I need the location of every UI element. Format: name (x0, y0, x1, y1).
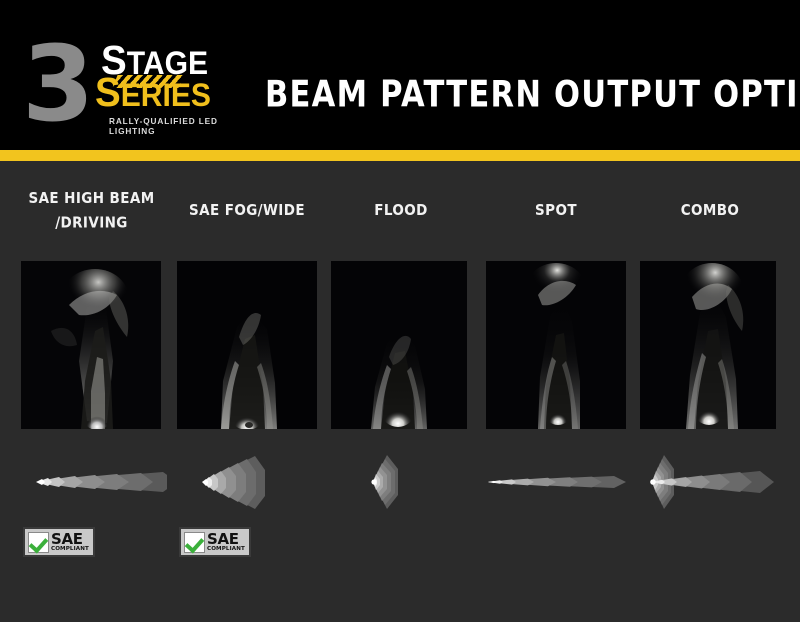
logo-numeral: 3 (22, 32, 88, 136)
beam-photo-flood (331, 261, 467, 429)
check-icon (184, 532, 205, 553)
column-label: SAE HIGH BEAM /DRIVING (14, 186, 169, 235)
sae-badge-text: SAE COMPLIANT (207, 532, 245, 553)
sae-badge-subtitle: COMPLIANT (207, 547, 245, 553)
beam-column-grid: SAE HIGH BEAM /DRIVING (0, 161, 800, 622)
beam-diagram-sae-high-beam-driving (17, 447, 167, 517)
column-label: SPOT (486, 198, 626, 223)
column-sae-high-beam-driving: SAE HIGH BEAM /DRIVING (21, 161, 161, 622)
sae-badge-title: SAE (207, 532, 245, 547)
column-label: FLOOD (331, 198, 471, 223)
sae-compliant-badge: SAE COMPLIANT (179, 527, 251, 557)
beam-diagram-flood (327, 447, 477, 517)
stage-series-logo: 3 STAGE SERIES RALLY-QUALIFIED LED LIGHT… (22, 28, 252, 133)
column-flood: FLOOD (331, 161, 471, 622)
beam-photo-sae-high-beam-driving (21, 261, 161, 429)
beam-photo-sae-fog-wide (177, 261, 317, 429)
sae-badge-text: SAE COMPLIANT (51, 532, 89, 553)
header-bar: 3 STAGE SERIES RALLY-QUALIFIED LED LIGHT… (0, 0, 800, 150)
column-label: COMBO (640, 198, 780, 223)
beam-diagram-sae-fog-wide (173, 447, 323, 517)
logo-wordmark: STAGE SERIES RALLY-QUALIFIED LED LIGHTIN… (95, 44, 255, 134)
gold-divider (0, 150, 800, 161)
check-icon (28, 532, 49, 553)
logo-series-text: SERIES (95, 76, 211, 111)
beam-pattern-chart: 3 STAGE SERIES RALLY-QUALIFIED LED LIGHT… (0, 0, 800, 622)
column-spot: SPOT (486, 161, 626, 622)
page-title: BEAM PATTERN OUTPUT OPTIONS (265, 75, 800, 116)
sae-compliant-badge: SAE COMPLIANT (23, 527, 95, 557)
sae-badge-subtitle: COMPLIANT (51, 547, 89, 553)
beam-diagram-combo (636, 447, 786, 517)
column-sae-fog-wide: SAE FOG/WIDE (177, 161, 317, 622)
beam-diagram-spot (482, 447, 632, 517)
beam-photo-spot (486, 261, 626, 429)
column-combo: COMBO (640, 161, 780, 622)
column-label: SAE FOG/WIDE (177, 198, 317, 223)
sae-badge-title: SAE (51, 532, 89, 547)
logo-tagline: RALLY-QUALIFIED LED LIGHTING (109, 116, 251, 136)
beam-photo-combo (640, 261, 776, 429)
